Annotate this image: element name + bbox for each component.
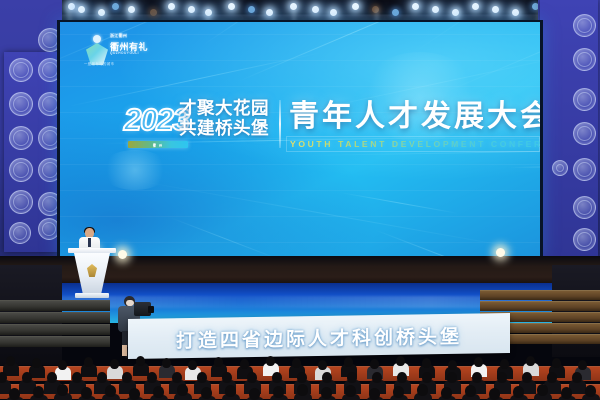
audience-member-head: [172, 372, 182, 383]
audience-member-head: [497, 372, 507, 383]
audience-member-head: [225, 385, 236, 397]
university-emblem-icon: [573, 48, 596, 71]
podium-base: [75, 293, 109, 298]
audience-member-head: [448, 360, 457, 370]
stage-lamp-icon: [472, 3, 479, 10]
audience-member-head: [297, 384, 308, 396]
accent-bar-text: 衢 州: [153, 142, 163, 147]
audience-member-head: [572, 372, 582, 383]
audience-member-head: [561, 387, 572, 399]
audience-member-head: [57, 384, 68, 396]
audience-member-head: [81, 387, 92, 399]
organizer-logo: 浙江衢州 衢州有礼 QUZHOUYOULI 一座最有礼的城市: [82, 30, 146, 74]
screen-scanline: [60, 190, 540, 191]
audience-member-head: [417, 384, 428, 396]
audience-member-head: [347, 372, 357, 383]
audience-member-head: [9, 388, 20, 400]
audience-member-head: [585, 385, 596, 397]
stage-lamp-icon: [330, 9, 337, 16]
stage-lamp-icon: [150, 9, 157, 16]
university-emblem-icon: [573, 122, 596, 145]
university-emblem-icon: [573, 196, 596, 219]
audience-member-head: [465, 385, 476, 397]
audience-member-head: [552, 358, 561, 368]
audience-member-head: [129, 388, 140, 400]
audience-member-head: [22, 372, 32, 383]
audience-member-head: [266, 356, 275, 366]
audience-area: [0, 352, 600, 400]
audience-member-head: [201, 387, 212, 399]
stage-lamp-icon: [432, 6, 439, 13]
podium-top: [68, 248, 116, 253]
logo-dot-icon: [93, 35, 101, 43]
floor-spotlight: [118, 250, 127, 259]
stage-lamp-icon: [228, 3, 235, 10]
camera-lens-icon: [148, 306, 154, 313]
logo-pinyin-text: QUZHOUYOULI: [110, 51, 139, 55]
headline-divider: [279, 100, 281, 148]
screen-ray: [340, 192, 458, 214]
university-emblem-icon: [9, 222, 31, 244]
audience-member-head: [441, 387, 452, 399]
audience-member-head: [58, 360, 67, 370]
screen-ray: [170, 217, 282, 256]
university-emblem-icon: [9, 158, 33, 182]
audience-member-head: [318, 360, 327, 370]
audience-member-head: [372, 372, 382, 383]
university-emblem-icon: [9, 58, 33, 82]
audience-member-head: [33, 386, 44, 398]
audience-member-head: [522, 372, 532, 383]
university-emblem-icon: [9, 190, 33, 214]
audience-member-head: [97, 372, 107, 383]
speaker-podium: [68, 248, 116, 300]
audience-member-head: [162, 358, 171, 368]
audience-member-head: [321, 387, 332, 399]
slogan-line-1: 才聚大花园: [179, 98, 272, 118]
university-emblem-icon: [9, 92, 33, 116]
audience-member-head: [177, 384, 188, 396]
conference-subtitle-en: YOUTH TALENT DEVELOPMENT CONFERENCE: [290, 139, 540, 149]
audience-member-head: [322, 372, 332, 383]
conference-stage-photo: 浙江衢州 衢州有礼 QUZHOUYOULI 一座最有礼的城市 2023 衢 州 …: [0, 0, 600, 400]
stage-lamp-icon: [312, 6, 319, 13]
stage-lamp-icon: [492, 6, 499, 13]
stage-lamp-icon: [352, 3, 359, 10]
audience-member-head: [153, 386, 164, 398]
audience-member-head: [47, 372, 57, 383]
university-emblem-icon: [9, 126, 33, 150]
audience-member-head: [214, 357, 223, 367]
audience-member-head: [297, 372, 307, 383]
led-screen: 浙江衢州 衢州有礼 QUZHOUYOULI 一座最有礼的城市 2023 衢 州 …: [60, 22, 540, 256]
stage-lamp-icon: [168, 3, 175, 10]
floor-spotlight: [496, 248, 505, 257]
banner-slogan: 打造四省边际人才科创桥头堡: [128, 321, 510, 354]
audience-member-head: [105, 385, 116, 397]
slogan-line-2: 共建桥头堡: [179, 118, 272, 138]
audience-member-head: [513, 386, 524, 398]
audience-member-head: [393, 386, 404, 398]
audience-member-head: [72, 372, 82, 383]
audience-member-head: [369, 388, 380, 400]
stage-lamp-icon: [98, 9, 105, 16]
stage-lamp-icon: [512, 9, 519, 16]
presenter-tie: [88, 238, 91, 247]
screen-headline-block: 2023 衢 州 才聚大花园 共建桥头堡 青年人才发展大会 YOUTH TALE…: [124, 98, 524, 166]
stage-steps-left: [0, 300, 110, 360]
audience-member-head: [188, 360, 197, 370]
stage-lamp-icon: [78, 6, 85, 13]
audience-member-head: [32, 358, 41, 368]
year-accent-bar: 衢 州: [128, 141, 188, 148]
audience-member-head: [447, 372, 457, 383]
audience-member-head: [122, 372, 132, 383]
audience-member-head: [547, 372, 557, 383]
audience-member-head: [422, 358, 431, 368]
audience-member-head: [222, 372, 232, 383]
audience-member-head: [345, 385, 356, 397]
audience-member-head: [110, 359, 119, 369]
logo-small-top-text: 浙江衢州: [110, 33, 127, 38]
university-emblem-icon: [573, 228, 596, 251]
stage-lamp-icon: [188, 6, 195, 13]
audience-member-head: [422, 372, 432, 383]
screen-scanline: [60, 216, 540, 217]
audience-member-head: [247, 372, 257, 383]
stage-lamp-icon: [412, 3, 419, 10]
university-emblem-icon: [573, 88, 596, 111]
audience-member-head: [84, 357, 93, 367]
screen-scanline: [60, 242, 540, 243]
audience-member-head: [147, 372, 157, 383]
university-emblem-icon: [573, 158, 596, 181]
audience-member-head: [489, 388, 500, 400]
stage-lamp-icon: [266, 9, 273, 16]
audience-member-head: [396, 356, 405, 366]
audience-member-head: [526, 356, 535, 366]
logo-footer-text: 一座最有礼的城市: [84, 61, 114, 66]
audience-member-head: [472, 372, 482, 383]
audience-member-head: [292, 358, 301, 368]
stage-lamp-icon: [392, 9, 399, 16]
audience-member-head: [578, 360, 587, 370]
slogan-block: 才聚大花园 共建桥头堡: [179, 98, 272, 138]
audience-member-head: [344, 357, 353, 367]
audience-member-head: [273, 386, 284, 398]
stage-lamp-icon: [248, 6, 255, 13]
audience-member-head: [249, 388, 260, 400]
audience-member-head: [537, 384, 548, 396]
audience-member-head: [240, 359, 249, 369]
audience-member-head: [500, 359, 509, 369]
audience-member-head: [474, 357, 483, 367]
audience-member-head: [197, 372, 207, 383]
university-emblem-icon: [573, 14, 596, 37]
stage-lamp-icon: [112, 3, 119, 10]
audience-member-head: [6, 356, 15, 366]
audience-member-head: [136, 356, 145, 366]
conference-title: 青年人才发展大会: [289, 100, 540, 134]
university-emblem-icon: [552, 160, 568, 176]
audience-member-head: [370, 359, 379, 369]
audience-member-head: [397, 372, 407, 383]
audience-member-head: [272, 372, 282, 383]
